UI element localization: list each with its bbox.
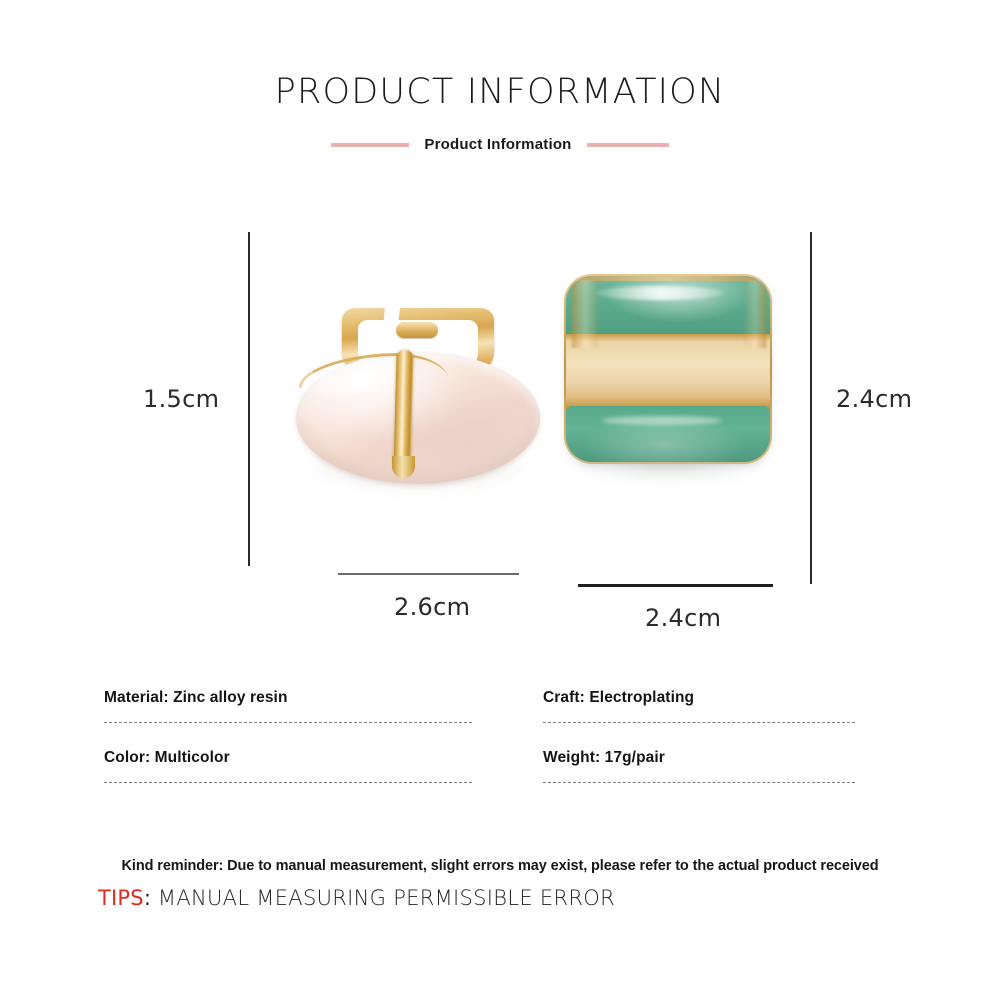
spec-material: Material: Zinc alloy resin — [104, 689, 288, 707]
spec-craft: Craft: Electroplating — [543, 689, 694, 707]
product-image-green-square-ring — [552, 272, 784, 494]
spec-color-label: Color: — [104, 749, 150, 766]
green-ring-band-sheen-left — [572, 280, 598, 348]
dimension-label-left-width: 2.6cm — [394, 593, 470, 621]
green-ring-bottom-enamel — [566, 406, 770, 462]
page-title: PRODUCT INFORMATION — [0, 72, 1000, 112]
width-guide-line-left — [338, 573, 519, 575]
spec-weight-label: Weight: — [543, 749, 600, 766]
spec-divider-material — [104, 722, 472, 723]
spec-color-value: Multicolor — [155, 749, 230, 766]
spec-divider-craft — [543, 722, 855, 723]
subtitle-row: Product Information — [0, 136, 1000, 153]
width-guide-line-right — [578, 584, 773, 587]
tips-label: TIPS — [98, 886, 144, 910]
green-ring-body — [566, 276, 770, 462]
page-subtitle: Product Information — [424, 136, 571, 153]
spec-craft-label: Craft: — [543, 689, 585, 706]
tips-row: TIPS : MANUAL MEASURING PERMISSIBLE ERRO… — [98, 886, 615, 910]
spec-craft-value: Electroplating — [589, 689, 694, 706]
product-information-page: PRODUCT INFORMATION Product Information … — [0, 0, 1000, 1000]
product-image-pink-oval-ring — [288, 300, 548, 520]
spec-color: Color: Multicolor — [104, 749, 230, 767]
height-guide-line-left — [248, 232, 250, 566]
spec-divider-weight — [543, 782, 855, 783]
accent-rule-left-icon — [331, 143, 409, 147]
dimension-label-right-height: 2.4cm — [836, 385, 912, 413]
spec-weight: Weight: 17g/pair — [543, 749, 665, 767]
pink-ring-gold-bar-tip — [392, 456, 415, 478]
spec-weight-value: 17g/pair — [605, 749, 665, 766]
dimension-label-right-width: 2.4cm — [645, 604, 721, 632]
tips-colon: : — [144, 886, 151, 910]
dimension-label-left-height: 1.5cm — [143, 385, 219, 413]
tips-message: MANUAL MEASURING PERMISSIBLE ERROR — [158, 886, 615, 910]
spec-material-label: Material: — [104, 689, 169, 706]
green-ring-top-gold-edge — [570, 276, 766, 281]
green-ring-band-sheen-right — [744, 280, 766, 348]
green-ring-top-highlight — [596, 286, 724, 300]
spec-material-value: Zinc alloy resin — [173, 689, 287, 706]
green-ring-bottom-highlight — [602, 416, 722, 425]
kind-reminder-text: Kind reminder: Due to manual measurement… — [0, 858, 1000, 874]
height-guide-line-right — [810, 232, 812, 584]
pink-ring-band-tip — [396, 322, 438, 338]
spec-divider-color — [104, 782, 472, 783]
accent-rule-right-icon — [587, 143, 669, 147]
